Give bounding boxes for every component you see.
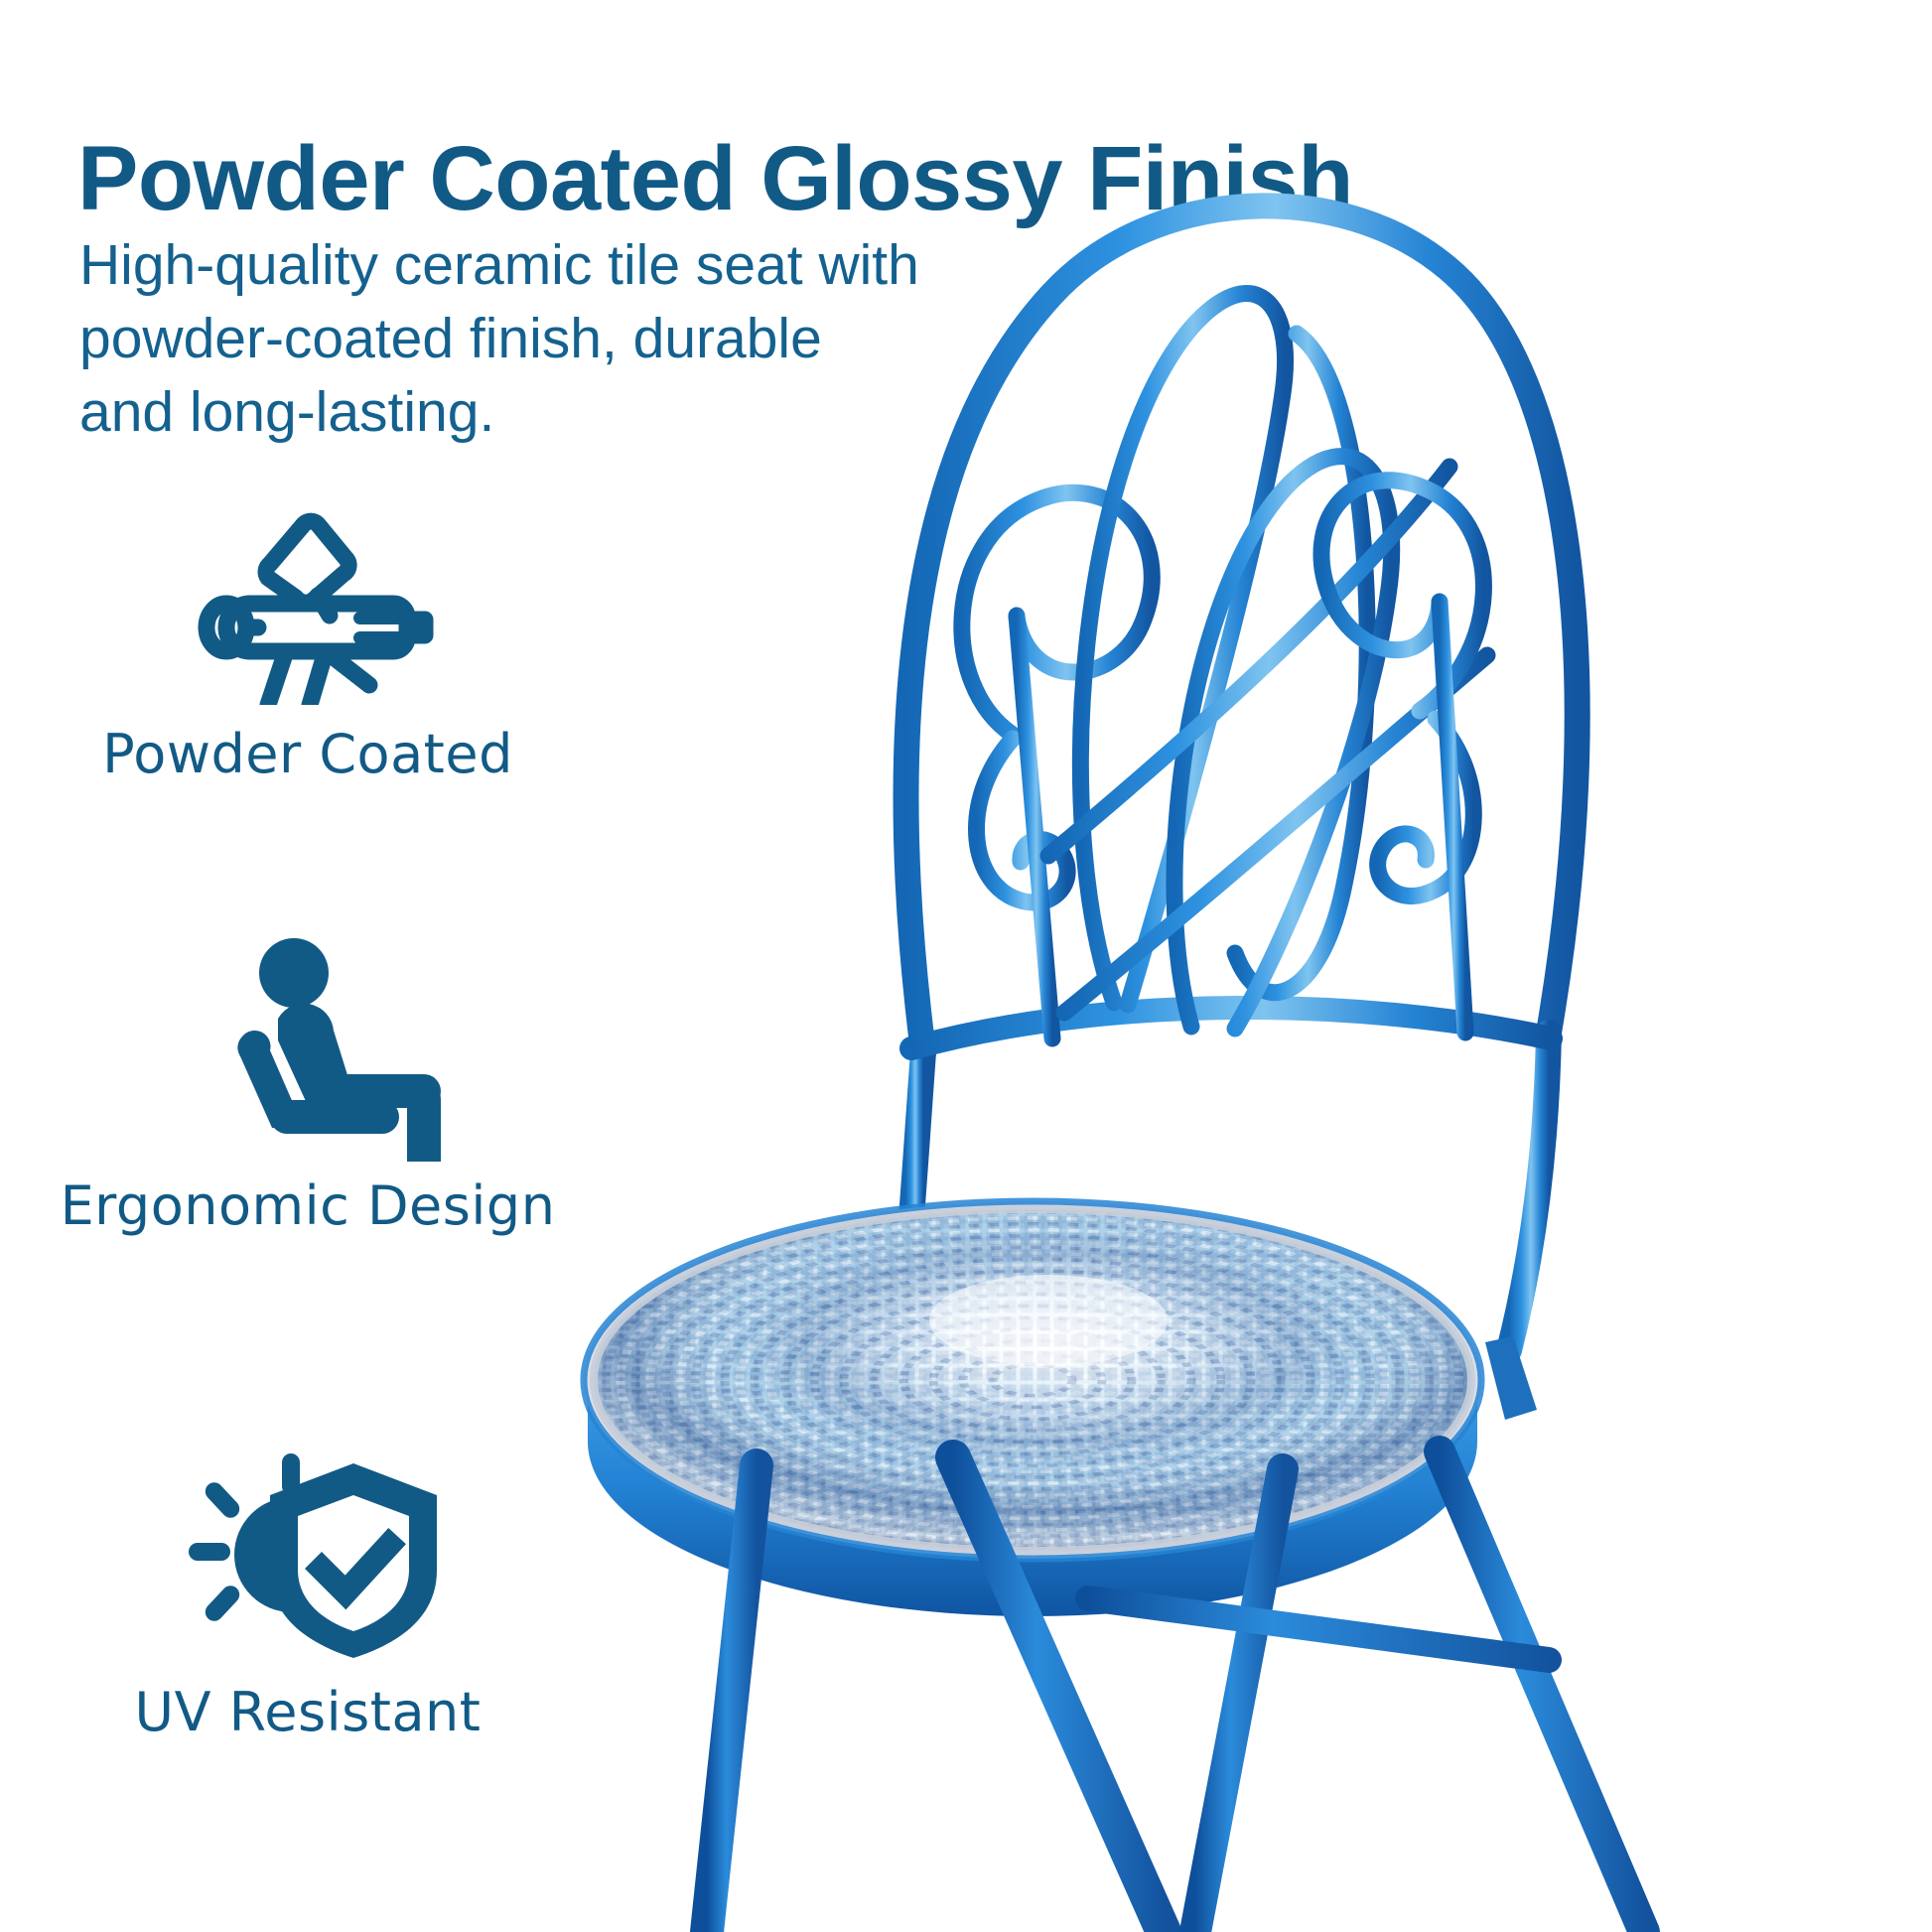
marketing-banner: Powder Coated Glossy Finish High-quality… [0,0,1932,1932]
backrest-scrollwork [962,293,1487,1038]
chair-seat [584,1201,1481,1616]
product-photo-folding-bistro-chair [496,0,1932,1932]
